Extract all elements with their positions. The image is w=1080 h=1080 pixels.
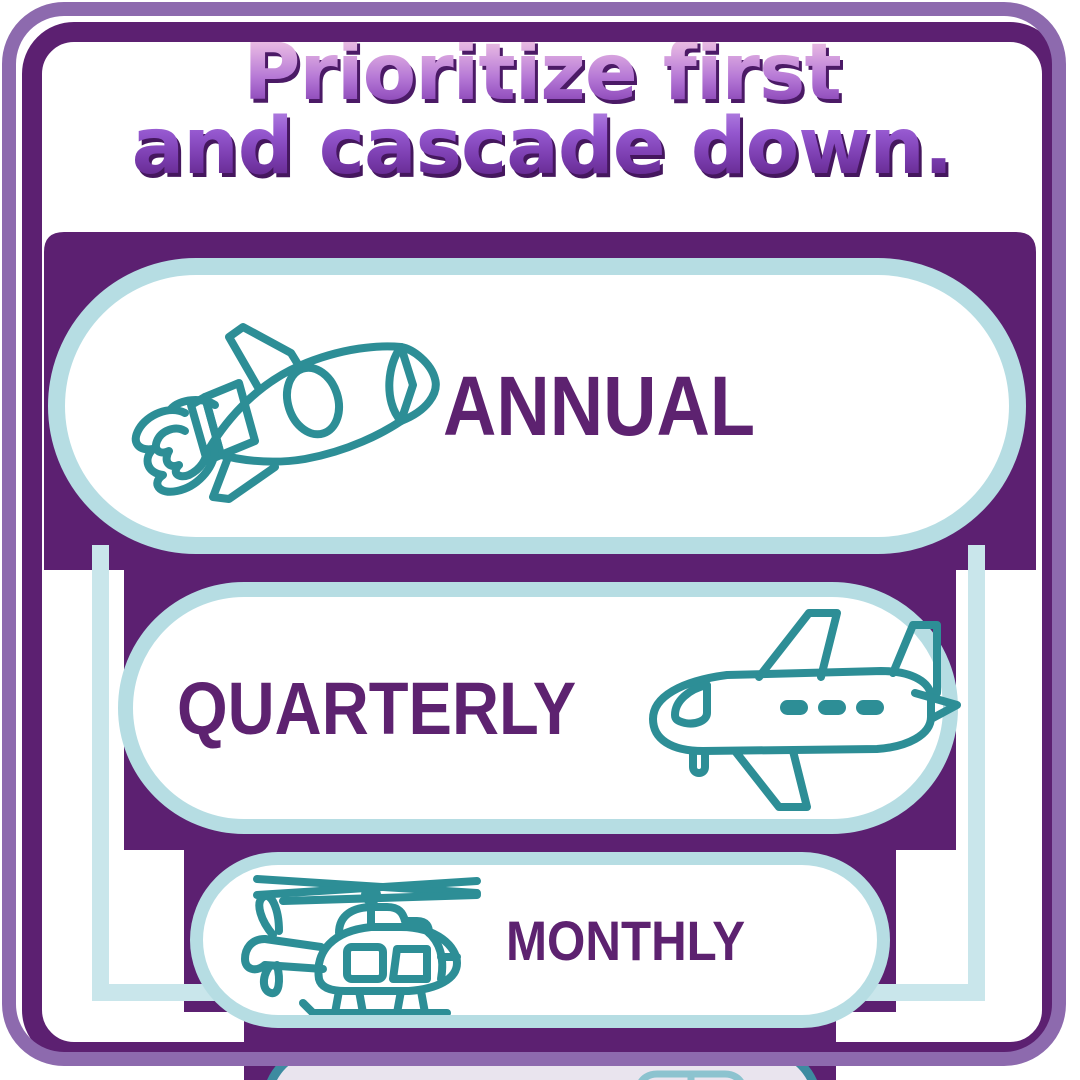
infographic-canvas: Prioritize first and cascade down. — [0, 0, 1080, 1080]
outer-border-frame — [2, 2, 1066, 1066]
car-icon — [597, 1064, 787, 1080]
